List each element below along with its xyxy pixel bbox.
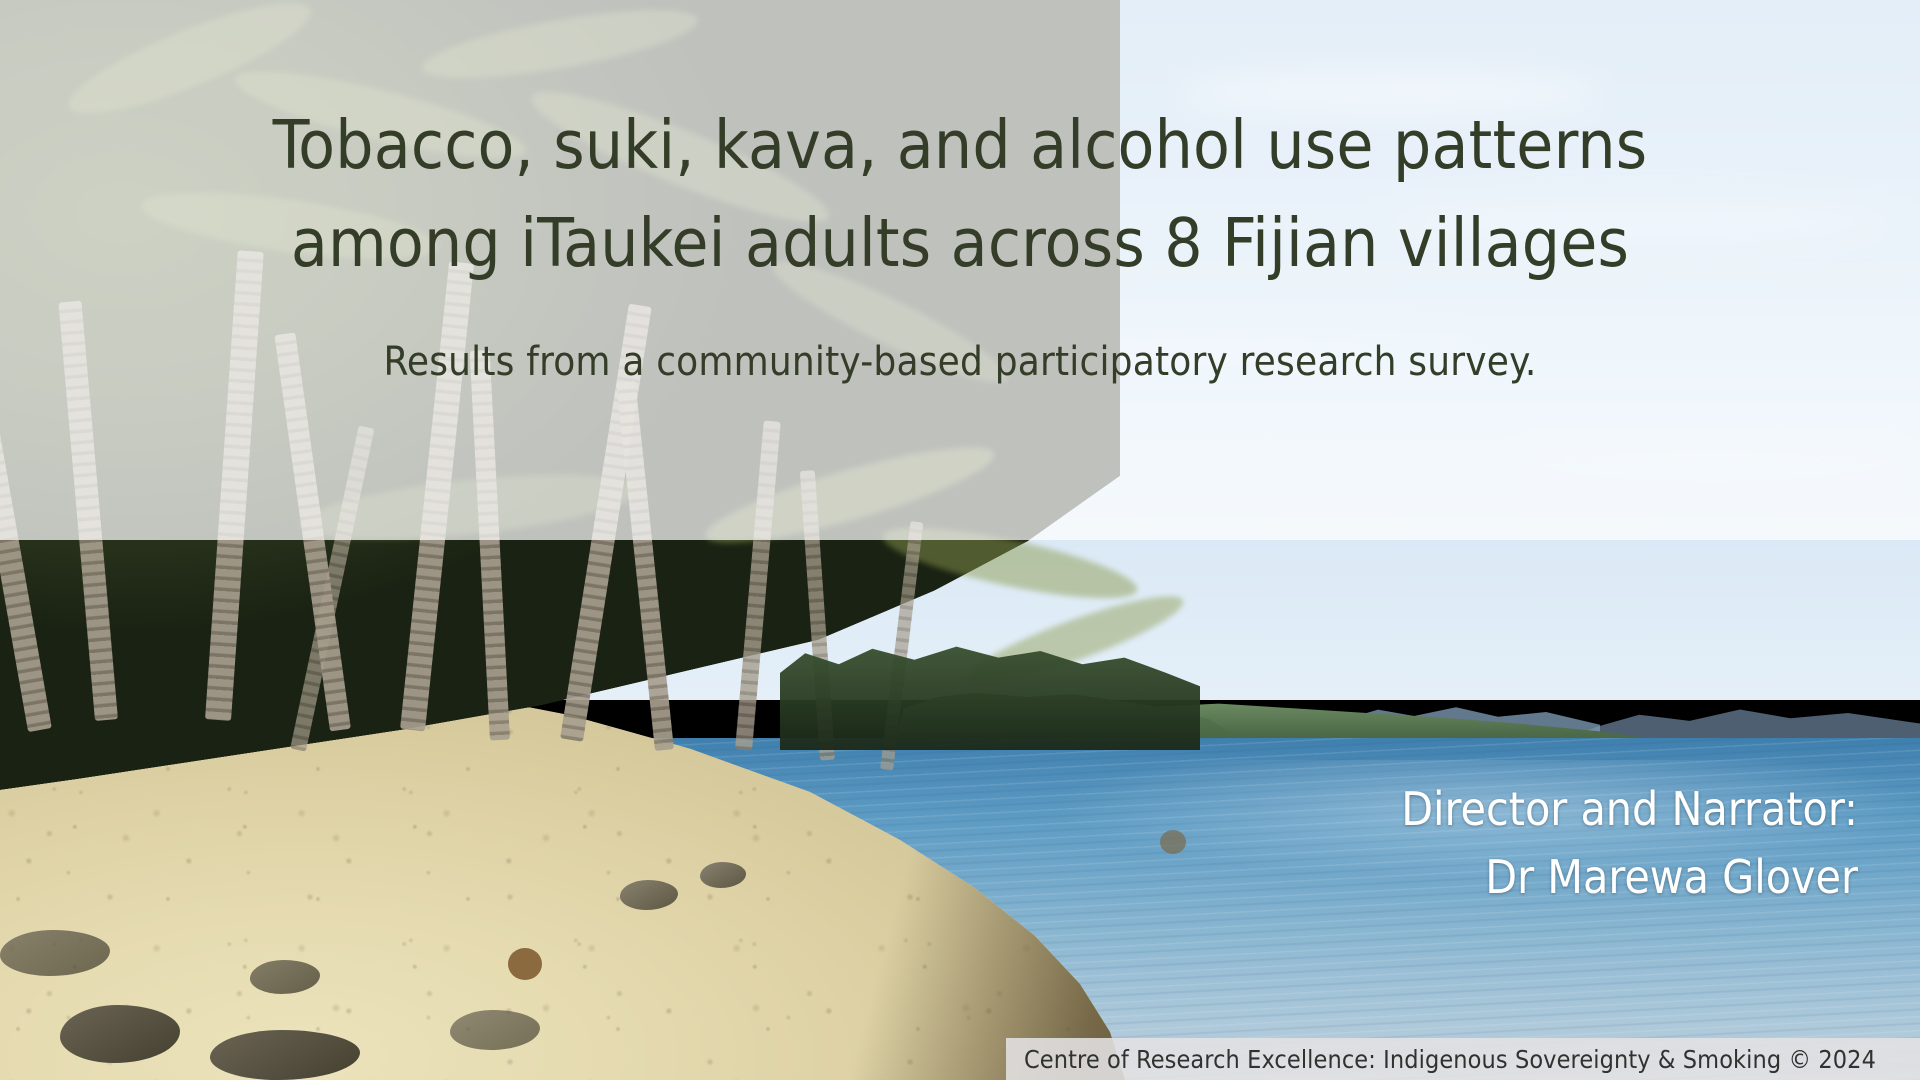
page-subtitle: Results from a community-based participa…: [383, 339, 1536, 385]
credit-block: Director and Narrator: Dr Marewa Glover: [1238, 775, 1858, 911]
footer-bar: Centre of Research Excellence: Indigenou…: [1006, 1038, 1920, 1080]
coconut-husk: [508, 948, 542, 980]
page-title: Tobacco, suki, kava, and alcohol use pat…: [110, 96, 1810, 293]
credit-role: Director and Narrator:: [1238, 775, 1858, 843]
title-line-2: among iTaukei adults across 8 Fijian vil…: [110, 194, 1810, 292]
title-block: Tobacco, suki, kava, and alcohol use pat…: [0, 0, 1920, 540]
title-line-1: Tobacco, suki, kava, and alcohol use pat…: [110, 96, 1810, 194]
footer-attribution: Centre of Research Excellence: Indigenou…: [1006, 1045, 1876, 1074]
credit-name: Dr Marewa Glover: [1238, 843, 1858, 911]
title-slide: Tobacco, suki, kava, and alcohol use pat…: [0, 0, 1920, 1080]
coconut-husk: [1160, 830, 1186, 854]
